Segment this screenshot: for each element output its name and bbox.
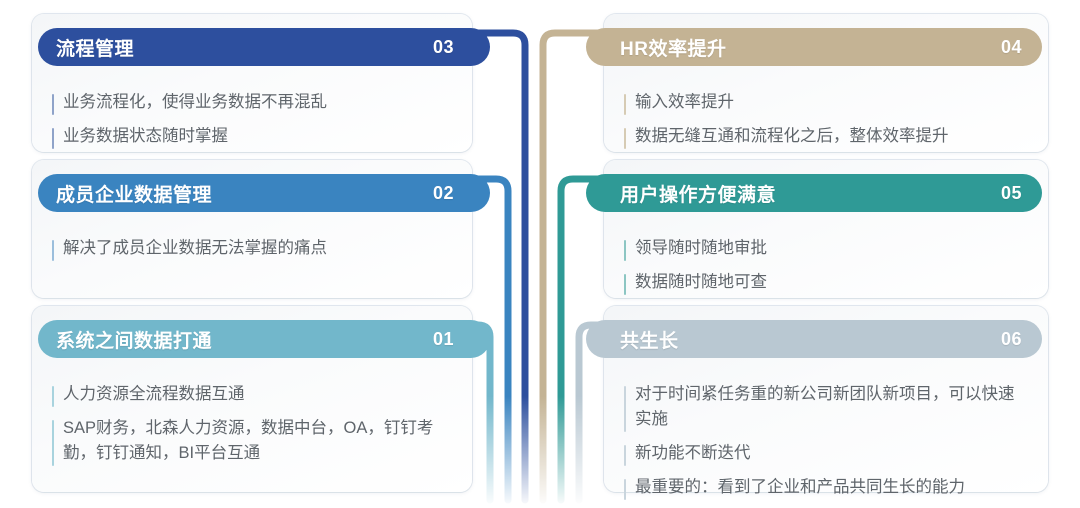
card-01-header[interactable]: 系统之间数据打通01 [38,320,490,358]
card-03-bullet: 业务数据状态随时掌握 [52,124,452,149]
bullet-tick-icon [52,240,54,261]
connector-04 [543,33,604,500]
card-01-number: 01 [433,329,454,350]
bullet-tick-icon [52,94,54,115]
card-05-title: 用户操作方便满意 [618,180,1001,207]
card-06-bullet-text: 最重要的：看到了企业和产品共同生长的能力 [635,475,965,500]
card-06-number: 06 [1001,329,1022,350]
bullet-tick-icon [624,386,626,432]
bullet-tick-icon [624,479,626,500]
card-05-bullet: 领导随时随地审批 [624,236,1028,261]
card-06-header[interactable]: 共生长06 [586,320,1042,358]
bullet-tick-icon [52,386,54,407]
card-04-number: 04 [1001,37,1022,58]
card-05-bullet-text: 数据随时随地可查 [635,270,767,295]
card-03-header[interactable]: 流程管理03 [38,28,490,66]
card-03[interactable]: 流程管理03业务流程化，使得业务数据不再混乱业务数据状态随时掌握 [32,14,472,152]
card-04-bullet-text: 数据无缝互通和流程化之后，整体效率提升 [635,124,949,149]
card-06-bullet-text: 对于时间紧任务重的新公司新团队新项目，可以快速实施 [635,382,1028,432]
infographic-canvas: 流程管理03业务流程化，使得业务数据不再混乱业务数据状态随时掌握成员企业数据管理… [0,0,1080,508]
card-04-body: 输入效率提升数据无缝互通和流程化之后，整体效率提升 [604,76,1048,152]
card-03-body: 业务流程化，使得业务数据不再混乱业务数据状态随时掌握 [32,76,472,152]
card-05-bullet: 数据随时随地可查 [624,270,1028,295]
card-01-bullet: SAP财务，北森人力资源，数据中台，OA，钉钉考勤，钉钉通知，BI平台互通 [52,416,452,466]
card-02-header[interactable]: 成员企业数据管理02 [38,174,490,212]
card-05-header[interactable]: 用户操作方便满意05 [586,174,1042,212]
card-03-title: 流程管理 [56,34,433,61]
card-02-title: 成员企业数据管理 [56,180,433,207]
card-06-bullet-text: 新功能不断迭代 [635,441,751,466]
bullet-tick-icon [624,128,626,149]
card-02-bullet-text: 解决了成员企业数据无法掌握的痛点 [63,236,327,261]
card-04-bullet: 数据无缝互通和流程化之后，整体效率提升 [624,124,1028,149]
card-01-bullet-text: 人力资源全流程数据互通 [63,382,245,407]
card-06-bullet: 对于时间紧任务重的新公司新团队新项目，可以快速实施 [624,382,1028,432]
card-02-bullet: 解决了成员企业数据无法掌握的痛点 [52,236,452,261]
card-06-bullet: 最重要的：看到了企业和产品共同生长的能力 [624,475,1028,500]
card-04-bullet: 输入效率提升 [624,90,1028,115]
card-01-title: 系统之间数据打通 [56,326,433,353]
bullet-tick-icon [624,240,626,261]
card-06[interactable]: 共生长06对于时间紧任务重的新公司新团队新项目，可以快速实施新功能不断迭代最重要… [604,306,1048,492]
connector-03 [472,33,525,500]
card-04-title: HR效率提升 [618,34,1001,61]
bullet-tick-icon [624,94,626,115]
card-06-bullet: 新功能不断迭代 [624,441,1028,466]
card-05-number: 05 [1001,183,1022,204]
card-02[interactable]: 成员企业数据管理02解决了成员企业数据无法掌握的痛点 [32,160,472,298]
bullet-tick-icon [624,445,626,466]
card-06-title: 共生长 [618,326,1001,353]
card-03-bullet-text: 业务数据状态随时掌握 [63,124,228,149]
card-03-bullet: 业务流程化，使得业务数据不再混乱 [52,90,452,115]
card-01-bullet-text: SAP财务，北森人力资源，数据中台，OA，钉钉考勤，钉钉通知，BI平台互通 [63,416,452,466]
card-01-bullet: 人力资源全流程数据互通 [52,382,452,407]
card-02-body: 解决了成员企业数据无法掌握的痛点 [32,222,472,298]
card-02-number: 02 [433,183,454,204]
bullet-tick-icon [624,274,626,295]
card-03-number: 03 [433,37,454,58]
bullet-tick-icon [52,128,54,149]
bullet-tick-icon [52,420,54,466]
card-04[interactable]: HR效率提升04输入效率提升数据无缝互通和流程化之后，整体效率提升 [604,14,1048,152]
card-01[interactable]: 系统之间数据打通01人力资源全流程数据互通SAP财务，北森人力资源，数据中台，O… [32,306,472,492]
card-04-bullet-text: 输入效率提升 [635,90,734,115]
card-03-bullet-text: 业务流程化，使得业务数据不再混乱 [63,90,327,115]
card-05-body: 领导随时随地审批数据随时随地可查 [604,222,1048,298]
card-05[interactable]: 用户操作方便满意05领导随时随地审批数据随时随地可查 [604,160,1048,298]
card-01-body: 人力资源全流程数据互通SAP财务，北森人力资源，数据中台，OA，钉钉考勤，钉钉通… [32,368,472,492]
card-05-bullet-text: 领导随时随地审批 [635,236,767,261]
card-06-body: 对于时间紧任务重的新公司新团队新项目，可以快速实施新功能不断迭代最重要的：看到了… [604,368,1048,492]
card-04-header[interactable]: HR效率提升04 [586,28,1042,66]
